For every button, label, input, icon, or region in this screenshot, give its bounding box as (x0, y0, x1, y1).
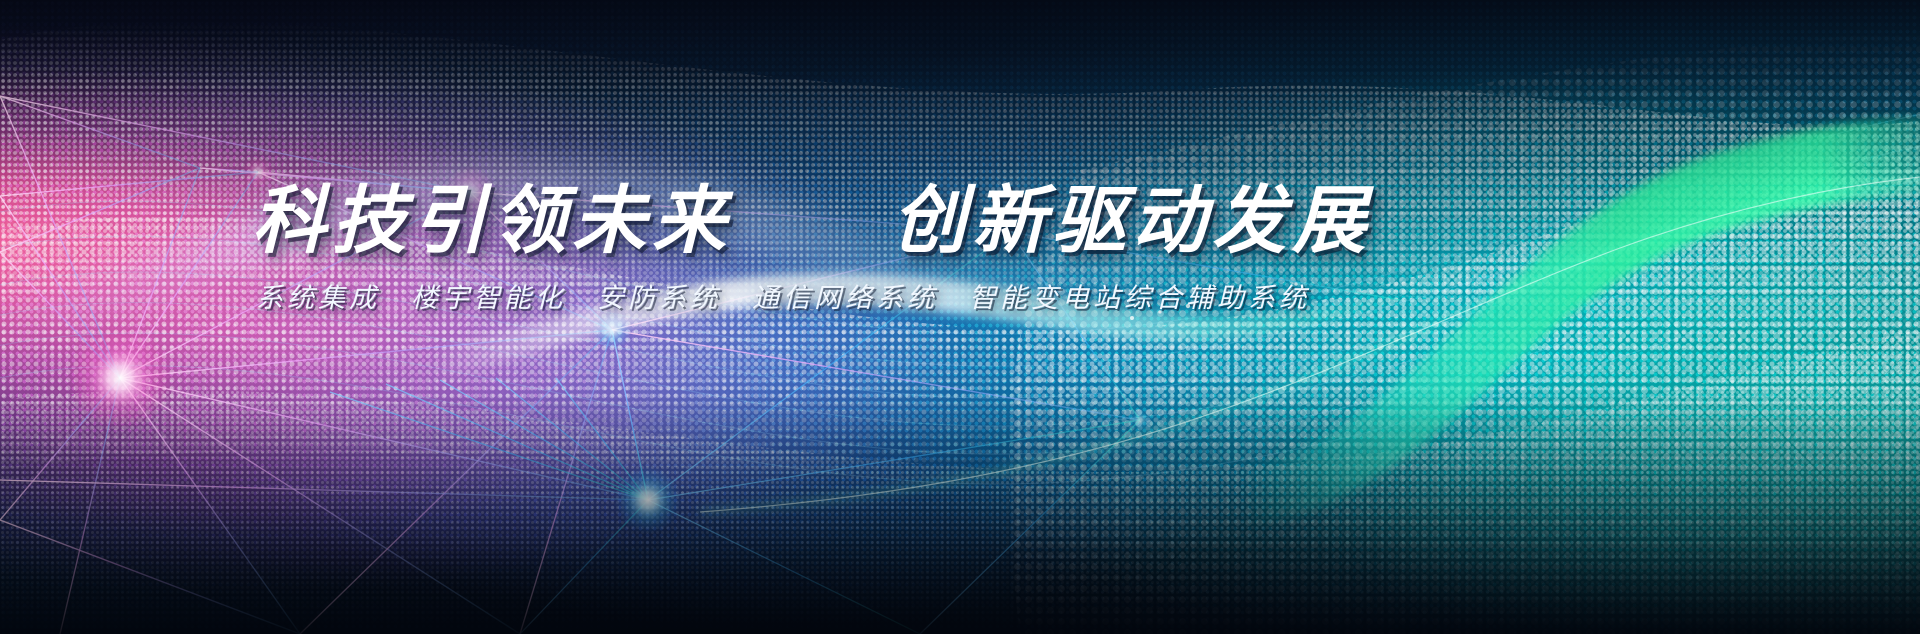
background-vignette (0, 0, 1920, 634)
background-red-glow (0, 0, 1920, 634)
network-node-mid (592, 310, 632, 350)
light-wave-ribbon-group (0, 0, 1920, 634)
halftone-dot-overlay-soft (0, 0, 1920, 634)
halftone-dot-overlay-fine (0, 0, 1920, 634)
hero-banner: 科技引领未来 创新驱动发展 系统集成 楼宇智能化 安防系统 通信网络系统 智能变… (0, 0, 1920, 634)
banner-subline: 系统集成 楼宇智能化 安防系统 通信网络系统 智能变电站综合辅助系统 (256, 282, 1652, 314)
dot-band-top (0, 0, 1920, 634)
network-node-left (68, 326, 172, 430)
network-node-right (1128, 408, 1152, 432)
background-cyan-green-glow (0, 0, 1920, 634)
halftone-dot-wave-field (0, 0, 1920, 634)
banner-text-block: 科技引领未来 创新驱动发展 系统集成 楼宇智能化 安防系统 通信网络系统 智能变… (252, 182, 1652, 315)
polygonal-network-mesh (0, 0, 1920, 634)
background-base-gradient (0, 0, 1920, 634)
light-wave-ribbon-green (1240, 116, 1920, 528)
dot-band-lower (0, 0, 1920, 634)
dot-band-middle (0, 0, 1920, 634)
banner-headline: 科技引领未来 创新驱动发展 (252, 182, 1652, 260)
mesh-lines-left (0, 96, 1140, 634)
network-node-center (614, 466, 682, 534)
background-blue-glow (0, 0, 1920, 634)
dot-band-right (0, 0, 1920, 634)
background-magenta-glow (0, 0, 1920, 634)
